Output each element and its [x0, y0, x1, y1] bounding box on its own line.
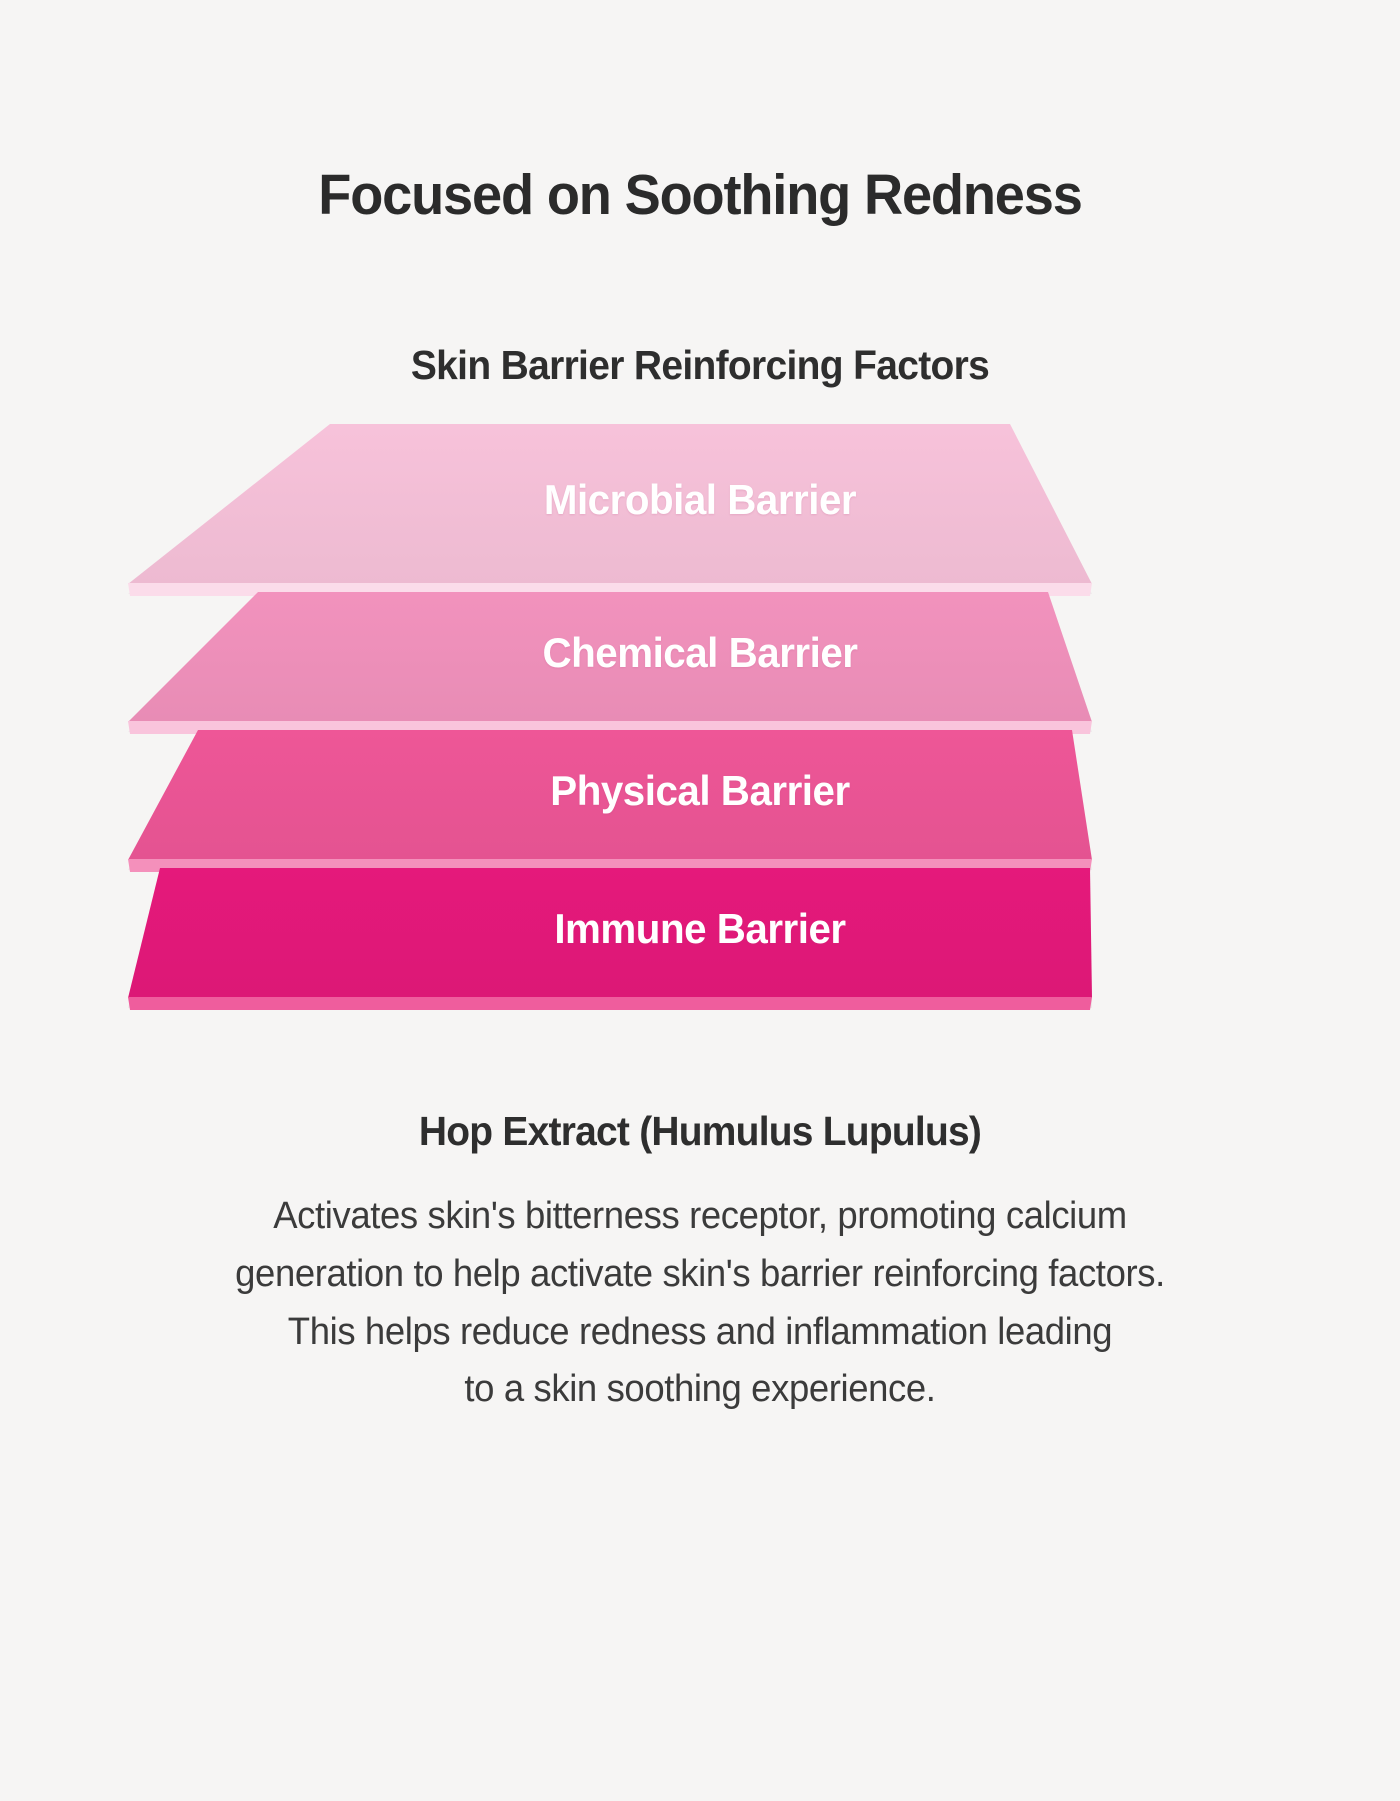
description-line: Activates skin's bitterness receptor, pr…: [86, 1188, 1315, 1246]
pyramid-layer-label: Immune Barrier: [28, 905, 1372, 953]
pyramid-layer-physical: Physical Barrier: [0, 730, 1400, 860]
description-line: to a skin soothing experience.: [86, 1361, 1315, 1419]
diagram-title: Skin Barrier Reinforcing Factors: [35, 342, 1365, 389]
skin-barrier-pyramid-diagram: Microbial Barrier Chemical Barrier Physi…: [0, 424, 1400, 1024]
description-line: This helps reduce redness and inflammati…: [86, 1304, 1315, 1362]
page-title: Focused on Soothing Redness: [35, 164, 1365, 228]
pyramid-layer-label: Microbial Barrier: [28, 476, 1372, 524]
pyramid-layer-immune: Immune Barrier: [0, 868, 1400, 998]
pyramid-layer-microbial: Microbial Barrier: [0, 424, 1400, 584]
description-line: generation to help activate skin's barri…: [86, 1246, 1315, 1304]
ingredient-description: Activates skin's bitterness receptor, pr…: [86, 1188, 1315, 1419]
pyramid-layer-label: Chemical Barrier: [28, 629, 1372, 677]
pyramid-layer-chemical: Chemical Barrier: [0, 592, 1400, 722]
pyramid-layer-label: Physical Barrier: [28, 767, 1372, 815]
layer-edge-highlight: [0, 997, 1400, 1010]
ingredient-name: Hop Extract (Humulus Lupulus): [35, 1108, 1365, 1155]
product-infographic-page: Focused on Soothing Redness Skin Barrier…: [0, 0, 1400, 1801]
